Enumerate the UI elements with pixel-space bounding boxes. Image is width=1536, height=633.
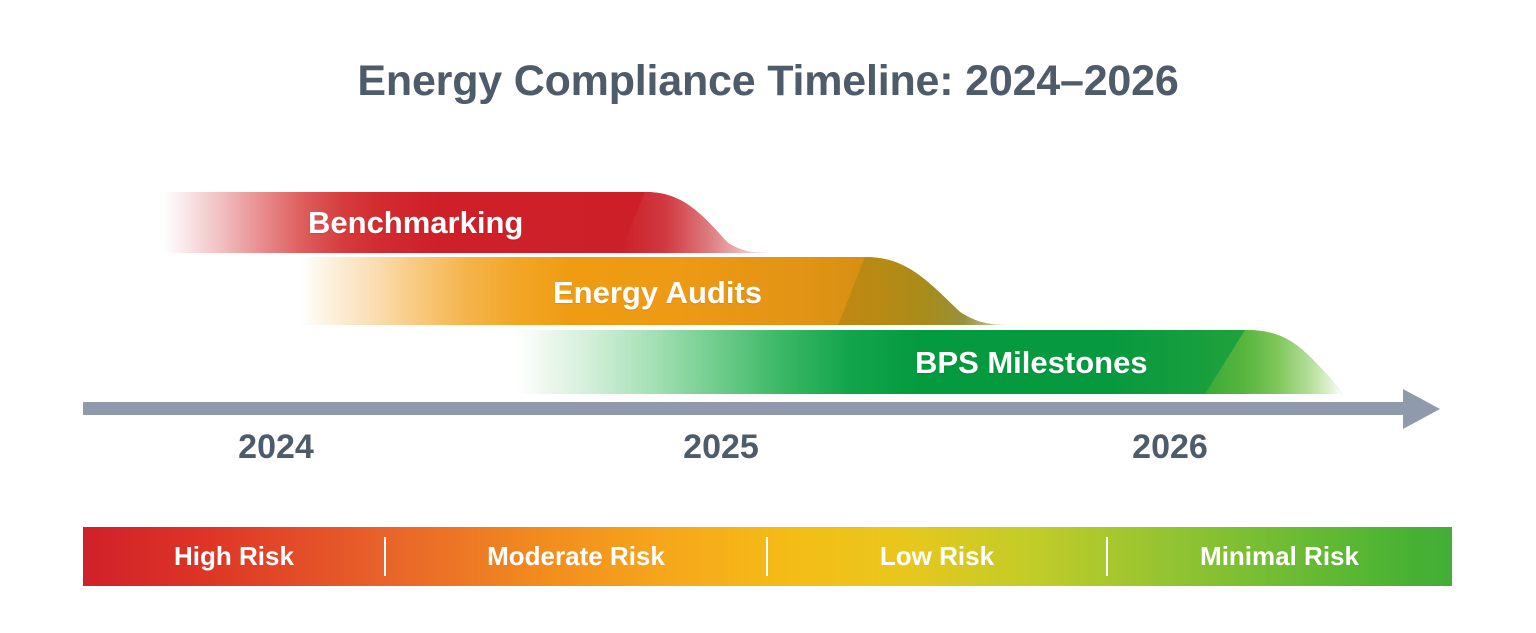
axis-year-2026: 2026 bbox=[1090, 428, 1250, 467]
risk-segment-low[interactable]: Low Risk bbox=[767, 527, 1107, 586]
risk-segment-label-high: High Risk bbox=[174, 541, 294, 572]
risk-segment-moderate[interactable]: Moderate Risk bbox=[385, 527, 767, 586]
energy-compliance-timeline-infographic: Energy Compliance Timeline: 2024–2026 bbox=[0, 0, 1536, 633]
timeline-axis-line bbox=[83, 402, 1409, 415]
band-label-benchmarking: Benchmarking bbox=[308, 205, 523, 241]
risk-segment-label-minimal: Minimal Risk bbox=[1200, 541, 1359, 572]
band-label-energy-audits: Energy Audits bbox=[553, 275, 762, 311]
risk-segment-high[interactable]: High Risk bbox=[83, 527, 385, 586]
risk-segment-label-low: Low Risk bbox=[880, 541, 994, 572]
band-label-bps-milestones: BPS Milestones bbox=[915, 345, 1148, 381]
risk-segment-minimal[interactable]: Minimal Risk bbox=[1107, 527, 1452, 586]
risk-legend-bar: High Risk Moderate Risk Low Risk Minimal… bbox=[83, 527, 1452, 586]
arrow-right-icon bbox=[1403, 389, 1440, 429]
band-tail-orange bbox=[838, 257, 1012, 325]
axis-year-2024: 2024 bbox=[196, 428, 356, 467]
band-tail-red bbox=[620, 192, 772, 253]
risk-segment-label-moderate: Moderate Risk bbox=[487, 541, 665, 572]
axis-year-2025: 2025 bbox=[641, 428, 801, 467]
